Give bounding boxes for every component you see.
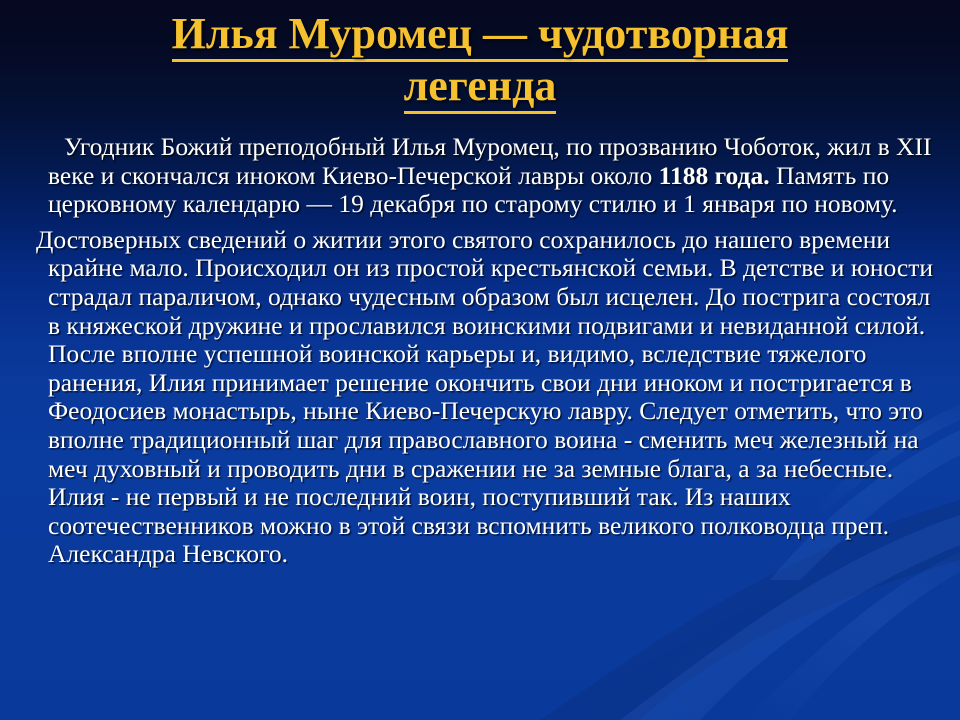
title-line-2: легенда bbox=[50, 60, 910, 112]
paragraph-1-bold-year: 1188 года. bbox=[659, 161, 770, 190]
title-line-1-text: Илья Муромец — чудотворная bbox=[172, 9, 789, 62]
presentation-slide: Илья Муромец — чудотворная легенда Угодн… bbox=[0, 0, 960, 720]
slide-title: Илья Муромец — чудотворная легенда bbox=[50, 8, 910, 112]
body-paragraph-2: Достоверных сведений о житии этого свято… bbox=[26, 226, 938, 569]
slide-body: Угодник Божий преподобный Илья Муромец, … bbox=[26, 133, 938, 576]
title-line-1: Илья Муромец — чудотворная bbox=[50, 8, 910, 60]
body-paragraph-1: Угодник Божий преподобный Илья Муромец, … bbox=[26, 133, 938, 219]
title-line-2-text: легенда bbox=[404, 61, 557, 114]
